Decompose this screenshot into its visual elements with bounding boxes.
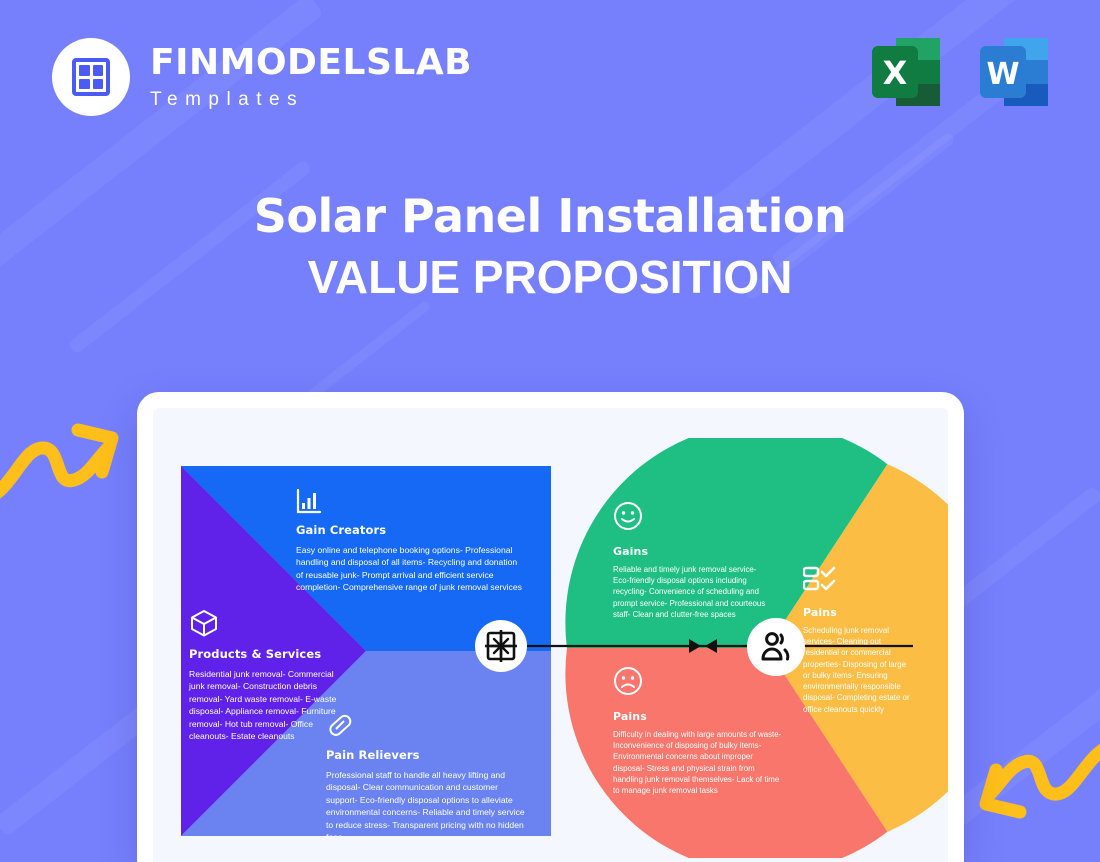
block-title: Pains xyxy=(613,710,783,723)
block-products-services: Products & Services Residential junk rem… xyxy=(189,608,349,743)
block-pain-relievers: Pain Relievers Professional staff to han… xyxy=(326,711,531,836)
office-format-icons: X W xyxy=(870,36,1050,108)
block-title: Pains xyxy=(803,606,915,619)
grid-logo-icon xyxy=(52,38,130,116)
device-frame: Gain Creators Easy online and telephone … xyxy=(137,392,964,862)
block-title: Gain Creators xyxy=(296,523,524,537)
block-gain-creators: Gain Creators Easy online and telephone … xyxy=(296,488,524,594)
brand-name: FINMODELSLAB xyxy=(150,45,472,81)
gift-box-icon xyxy=(485,630,517,662)
block-gains: Gains Reliable and timely junk removal s… xyxy=(613,501,773,620)
svg-text:W: W xyxy=(986,57,1019,92)
value-map-center-badge xyxy=(475,620,527,672)
page-title-line2: VALUE PROPOSITION xyxy=(0,249,1100,307)
brand-subtitle: Templates xyxy=(150,90,472,109)
squiggly-arrow-up-right-icon xyxy=(0,408,122,504)
block-pains: Pains Difficulty in dealing with large a… xyxy=(613,666,783,796)
block-body: Difficulty in dealing with large amounts… xyxy=(613,729,783,796)
squiggly-arrow-down-left-icon xyxy=(974,734,1100,832)
block-body: Professional staff to handle all heavy l… xyxy=(326,769,531,836)
block-body: Reliable and timely junk removal service… xyxy=(613,564,773,620)
checklist-icon xyxy=(803,566,915,597)
users-icon xyxy=(759,630,793,664)
block-title: Products & Services xyxy=(189,647,349,661)
page-title-line1: Solar Panel Installation xyxy=(0,190,1100,243)
block-body: Residential junk removal- Commercial jun… xyxy=(189,668,349,743)
block-body: Easy online and telephone booking option… xyxy=(296,544,524,594)
svg-text:X: X xyxy=(883,54,908,92)
excel-icon: X xyxy=(870,36,942,108)
pill-icon xyxy=(326,711,531,739)
block-title: Gains xyxy=(613,545,773,558)
connector-double-arrow xyxy=(493,630,913,662)
slide-canvas: Gain Creators Easy online and telephone … xyxy=(153,408,948,862)
block-title: Pain Relievers xyxy=(326,748,531,762)
smiley-happy-icon xyxy=(613,501,773,536)
word-icon: W xyxy=(978,36,1050,108)
bar-chart-icon xyxy=(296,488,524,514)
brand-logo: FINMODELSLAB Templates xyxy=(52,38,472,116)
package-box-icon xyxy=(189,608,349,638)
smiley-sad-icon xyxy=(613,666,783,701)
page-title: Solar Panel Installation VALUE PROPOSITI… xyxy=(0,190,1100,306)
customer-profile-center-badge xyxy=(747,618,805,676)
